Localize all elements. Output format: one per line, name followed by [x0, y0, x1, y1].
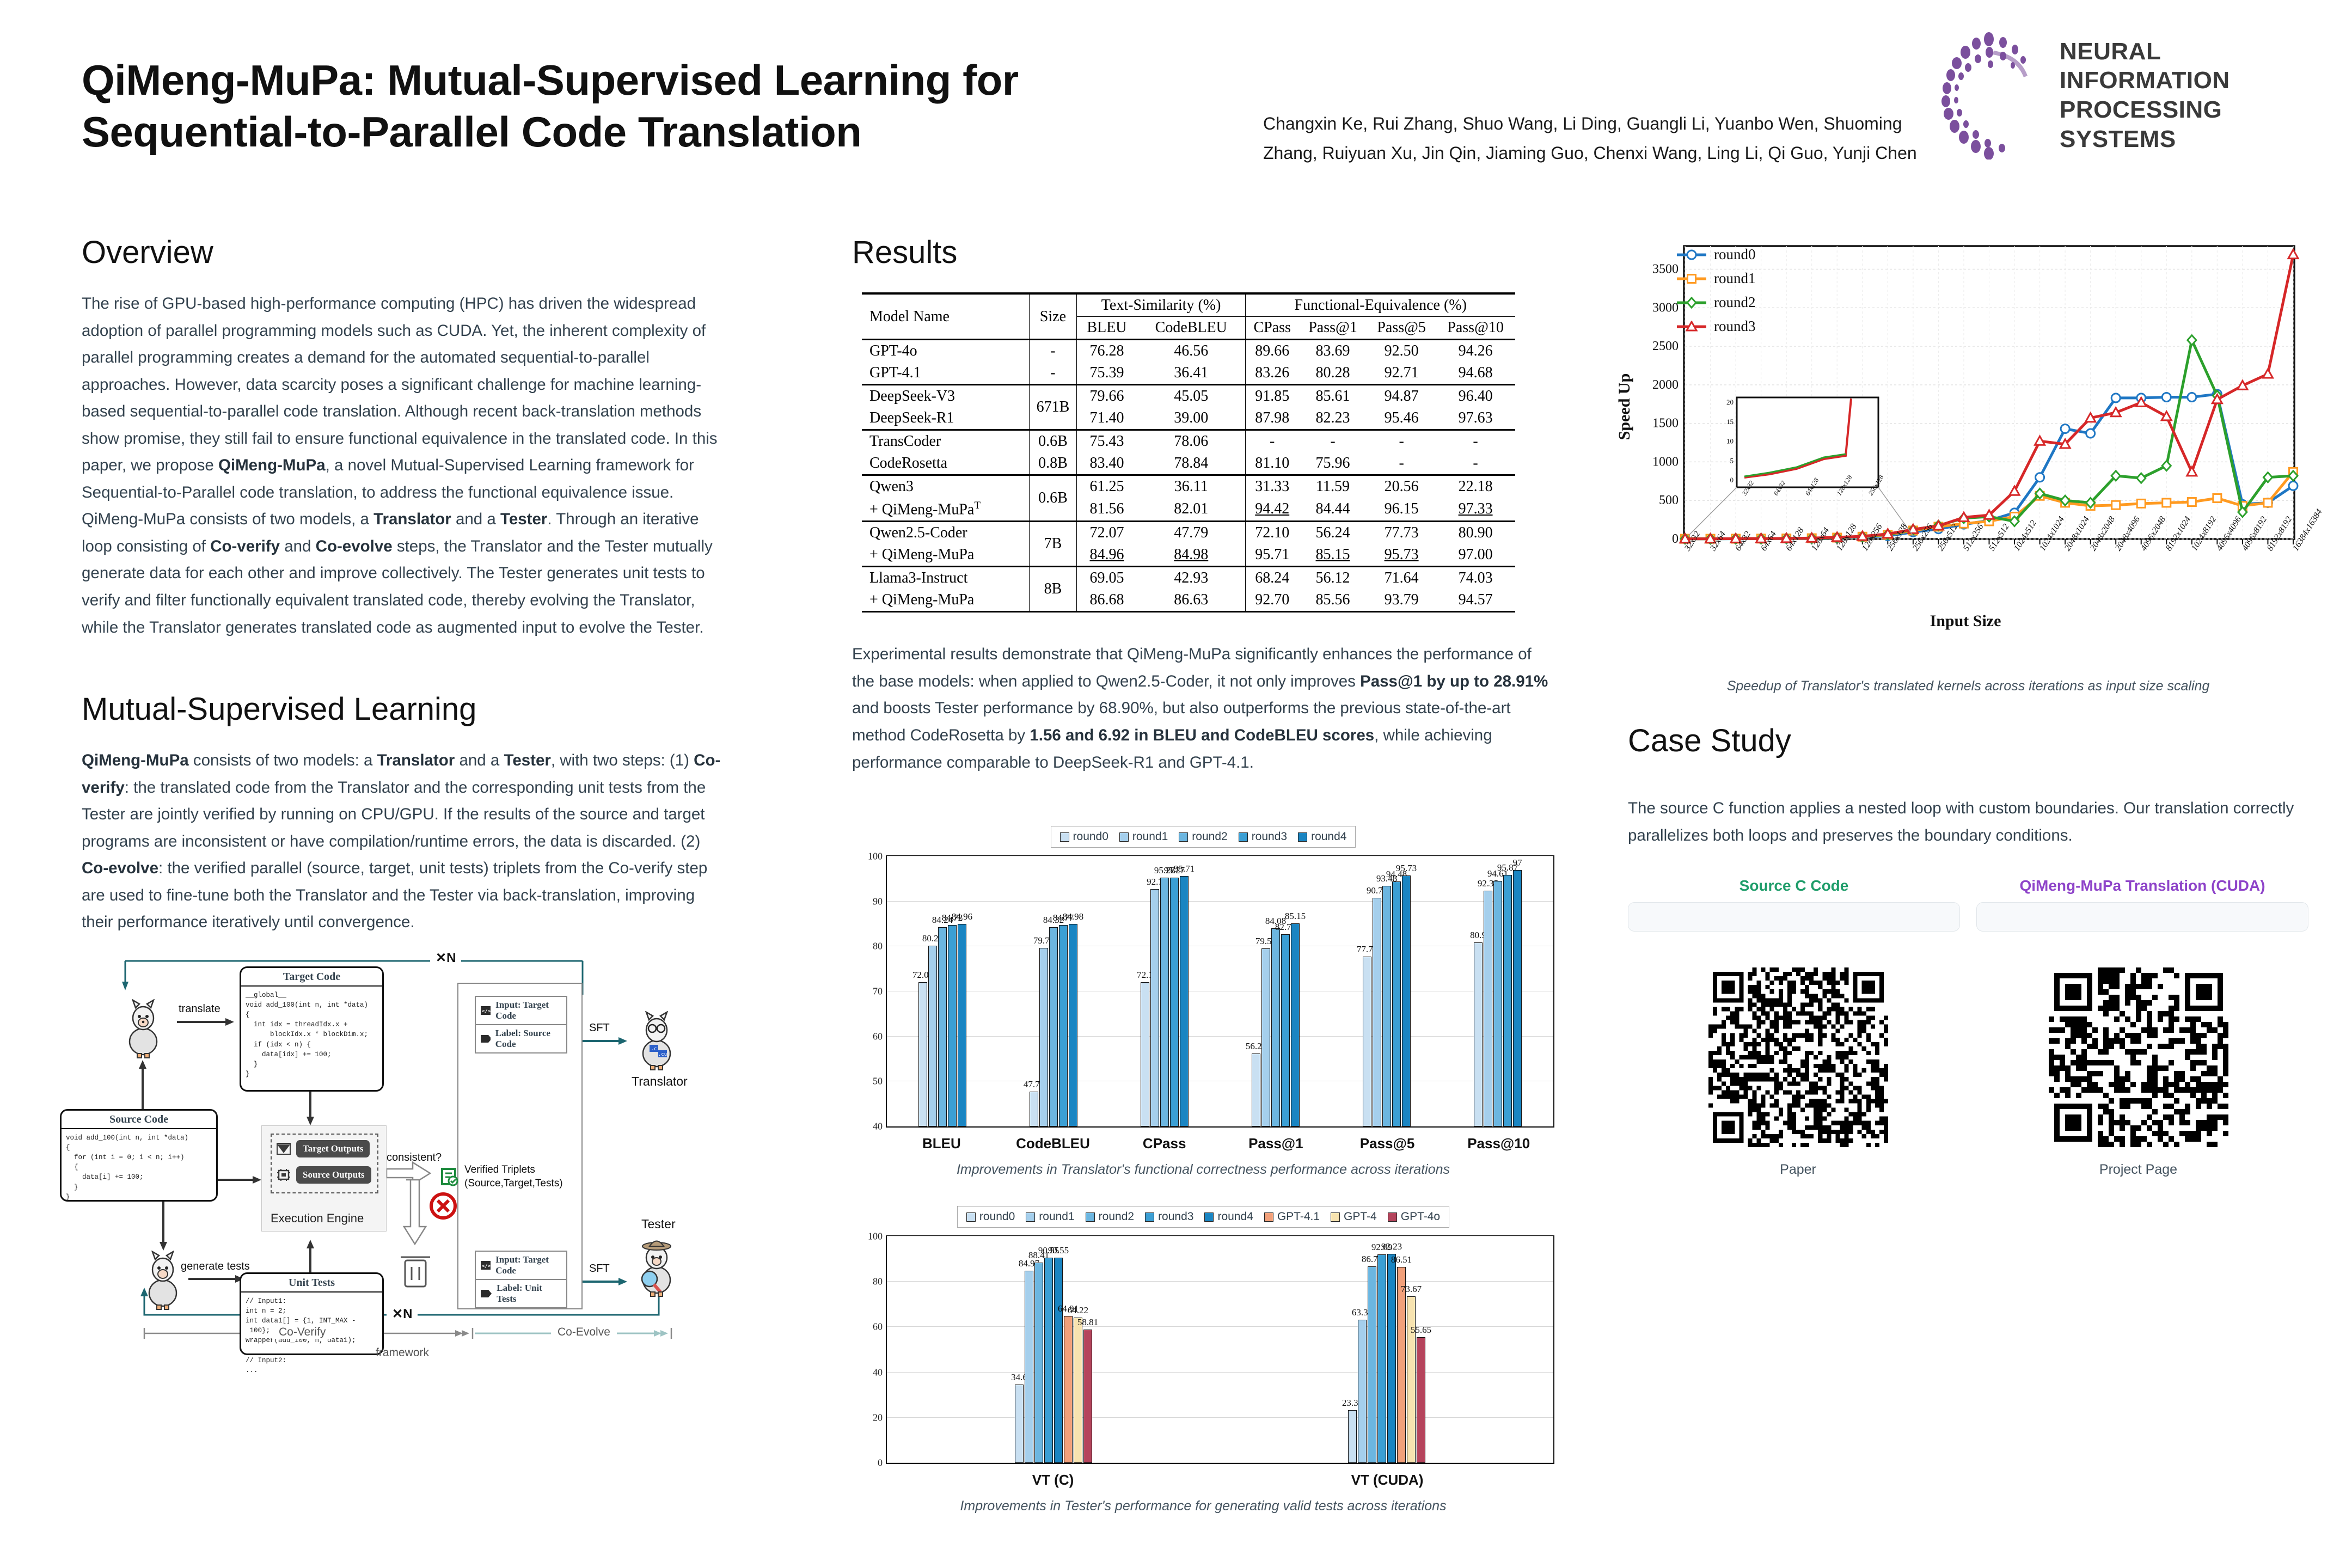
cell-value: 74.03 — [1436, 567, 1515, 590]
bar: 64.91 — [1064, 1316, 1073, 1463]
emphasis-text: Pass@1 by up to 28.91% — [1360, 672, 1548, 690]
cell-value: 92.70 — [1246, 589, 1298, 612]
th-cpass: CPass — [1246, 317, 1298, 340]
code-icon: </> — [480, 1260, 491, 1270]
cell-value: 68.24 — [1246, 567, 1298, 590]
legend-label: GPT-4.1 — [1277, 1210, 1320, 1223]
bar: 58.81 — [1083, 1330, 1092, 1463]
label-icon — [480, 1289, 492, 1298]
speedup-line-chart: Speed Up 0500100015002000250030003500051… — [1628, 234, 2303, 626]
cell-model-name: TransCoder — [862, 430, 1030, 453]
th-codebleu: CodeBLEU — [1137, 317, 1246, 340]
legend-swatch — [1204, 1212, 1214, 1222]
generate-tests-label: generate tests — [181, 1260, 250, 1273]
bar: 86.51 — [1397, 1267, 1406, 1463]
bar: 84.72 — [948, 925, 957, 1126]
table-row: + QiMeng-MuPaT81.5682.0194.4284.4496.159… — [862, 498, 1515, 522]
msl-paragraph: QiMeng-MuPa consists of two models: a Tr… — [82, 747, 730, 936]
bar: 84.77 — [1059, 925, 1068, 1126]
legend-swatch — [1264, 1212, 1273, 1222]
svg-text:2500: 2500 — [1652, 339, 1679, 353]
target-code-title: Target Code — [241, 968, 382, 987]
overview-heading: Overview — [82, 234, 730, 271]
table-row: + QiMeng-MuPa86.6886.6392.7085.5693.7994… — [862, 589, 1515, 612]
cell-model-name: GPT-4o — [862, 340, 1030, 363]
legend-swatch — [1179, 832, 1188, 842]
source-outputs-pill: Source Outputs — [296, 1166, 371, 1184]
y-tick-label: 50 — [853, 1076, 883, 1087]
legend-swatch — [1119, 832, 1129, 842]
legend-item: round2 — [1086, 1210, 1134, 1223]
translator-bar-chart: round0round1round2round3round4 405060708… — [852, 826, 1554, 1178]
bar: 95.28 — [1160, 878, 1169, 1126]
cell-value: 71.40 — [1076, 407, 1137, 430]
cell-size: 671B — [1030, 385, 1077, 430]
legend-marker — [1676, 249, 1707, 261]
cell-value: 11.59 — [1298, 475, 1367, 498]
emphasis-text: Co-verify — [210, 537, 280, 555]
verified-triplets-block: Verified Triplets (Source,Target,Tests) — [441, 1163, 563, 1190]
x-tick-label: Pass@5 — [1332, 1135, 1443, 1152]
legend-label: round0 — [1714, 246, 1756, 263]
x-tick-label: BLEU — [886, 1135, 997, 1152]
bar-value-label: 84.98 — [1063, 911, 1083, 922]
bar: 55.65 — [1417, 1337, 1425, 1463]
cell-value: 85.61 — [1298, 385, 1367, 408]
svg-text:</>: </> — [482, 1009, 491, 1014]
bar: 84.32 — [1049, 927, 1058, 1126]
cell-model-name: + QiMeng-MuPa — [862, 544, 1030, 567]
y-tick-label: 100 — [853, 851, 883, 862]
svg-text:10: 10 — [1726, 437, 1734, 445]
bar: 95.71 — [1180, 876, 1189, 1127]
target-outputs-row: Target Outputs — [276, 1140, 370, 1157]
cell-value: 76.28 — [1076, 340, 1137, 363]
cell-value: 77.73 — [1367, 522, 1436, 544]
verified-triplets-label-1: Verified Triplets — [464, 1163, 563, 1177]
target-code-box: Target Code __global__ void add_100(int … — [240, 966, 384, 1092]
svg-text:3000: 3000 — [1652, 301, 1679, 315]
x-tick-label: CodeBLEU — [997, 1135, 1109, 1152]
cell-value: 87.98 — [1246, 407, 1298, 430]
legend-item: GPT-4.1 — [1264, 1210, 1320, 1223]
y-tick-label: 0 — [853, 1457, 883, 1469]
cell-value: 82.01 — [1137, 498, 1246, 522]
body-text: : the verified parallel (source, target,… — [82, 859, 707, 931]
cell-value: 97.63 — [1436, 407, 1515, 430]
source-code-title: Source Code — [62, 1111, 216, 1129]
io-row: Label: Source Code — [476, 1024, 566, 1052]
cell-value: 94.57 — [1436, 589, 1515, 612]
bar: 93.48 — [1382, 886, 1391, 1126]
emphasis-text: Tester — [504, 751, 550, 769]
cell-model-name: CodeRosetta — [862, 452, 1030, 475]
cell-value: 75.96 — [1298, 452, 1367, 475]
overview-paragraph: The rise of GPU-based high-performance c… — [82, 290, 730, 641]
cell-value: 81.56 — [1076, 498, 1137, 522]
cell-value: 83.69 — [1298, 340, 1367, 363]
cell-model-name: Qwen3 — [862, 475, 1030, 498]
tester-io-card: </> Input: Target Code Label: Unit Tests — [475, 1251, 567, 1308]
cell-value: 95.73 — [1367, 544, 1436, 567]
legend-item: GPT-4 — [1331, 1210, 1377, 1223]
bar: 79.74 — [1039, 948, 1048, 1127]
bar: 80.23 — [928, 946, 937, 1127]
cell-value: 42.93 — [1137, 567, 1246, 590]
legend-item: round1 — [1026, 1210, 1074, 1223]
neurips-logo: NEURAL INFORMATION PROCESSING SYSTEMS — [1933, 30, 2276, 161]
io-label: Label: Source Code — [495, 1028, 562, 1050]
table-row: GPT-4.1-75.3936.4183.2680.2892.7194.68 — [862, 362, 1515, 385]
case-study-code-columns: Source C Code QiMeng-MuPa Translation (C… — [1628, 877, 2308, 932]
bar-group: 47.7979.7484.3284.7784.98 — [998, 856, 1109, 1126]
body-text: The rise of GPU-based high-performance c… — [82, 295, 718, 474]
body-text: , with two steps: (1) — [551, 751, 694, 769]
title-line-1: QiMeng-MuPa: Mutual-Supervised Learning … — [82, 54, 1198, 106]
emphasis-text: Co-evolve — [82, 859, 158, 877]
results-heading: Results — [852, 234, 1554, 271]
legend-label: round1 — [1039, 1210, 1074, 1223]
cell-value: 97.00 — [1436, 544, 1515, 567]
cell-value: 83.40 — [1076, 452, 1137, 475]
cuda-code-column-title: QiMeng-MuPa Translation (CUDA) — [1976, 877, 2308, 895]
legend-item: round0 — [966, 1210, 1015, 1223]
poster-root: QiMeng-MuPa: Mutual-Supervised Learning … — [0, 0, 2352, 1568]
th-pass10: Pass@10 — [1436, 317, 1515, 340]
svg-text:</>: </> — [482, 1264, 491, 1269]
bar: 77.73 — [1363, 957, 1371, 1126]
th-bleu: BLEU — [1076, 317, 1137, 340]
legend-item: round4 — [1204, 1210, 1253, 1223]
cell-value: 85.56 — [1298, 589, 1367, 612]
bar: 86.72 — [1368, 1266, 1376, 1463]
cell-value: 56.24 — [1298, 522, 1367, 544]
cell-value: 91.85 — [1246, 385, 1298, 408]
source-outputs-row: Source Outputs — [276, 1166, 371, 1184]
table-row: GPT-4o-76.2846.5689.6683.6992.5094.26 — [862, 340, 1515, 363]
source-code-body: void add_100(int n, int *data) { for (in… — [62, 1129, 216, 1206]
bar: 79.59 — [1261, 948, 1270, 1126]
body-text: and a — [451, 510, 500, 528]
bar: 88.41 — [1034, 1263, 1043, 1463]
bar: 47.79 — [1030, 1092, 1038, 1126]
legend-label: GPT-4 — [1344, 1210, 1377, 1223]
bar: 84.96 — [958, 924, 966, 1126]
cell-value: 22.18 — [1436, 475, 1515, 498]
column-middle: Results Model Name Size Text-Similarity … — [852, 234, 1554, 1514]
target-outputs-pill: Target Outputs — [296, 1140, 370, 1157]
th-group-text-similarity: Text-Similarity (%) — [1076, 293, 1246, 317]
table-row: TransCoder0.6B75.4378.06---- — [862, 430, 1515, 453]
legend-swatch — [1026, 1212, 1035, 1222]
translator-io-card: </> Input: Target Code Label: Source Cod… — [475, 996, 567, 1053]
cell-value: 39.00 — [1137, 407, 1246, 430]
cell-value: 80.28 — [1298, 362, 1367, 385]
cell-value: 69.05 — [1076, 567, 1137, 590]
cell-value: - — [1298, 430, 1367, 453]
bar: 56.24 — [1252, 1053, 1260, 1126]
legend-label: round2 — [1714, 294, 1756, 311]
bar-value-label: 73.67 — [1401, 1284, 1422, 1295]
bar: 34.6 — [1015, 1385, 1024, 1463]
legend-marker — [1676, 273, 1707, 285]
logo-line-2: PROCESSING SYSTEMS — [2060, 95, 2276, 154]
y-tick-label: 80 — [853, 1276, 883, 1288]
sft-label-translator: SFT — [589, 1022, 610, 1034]
cell-value: 83.26 — [1246, 362, 1298, 385]
qr-project-caption: Project Page — [2049, 1162, 2228, 1178]
qr-project-cell[interactable]: Project Page — [2049, 967, 2228, 1178]
legend-label: round1 — [1132, 830, 1168, 843]
translator-caption: Translator — [632, 1074, 688, 1089]
svg-text:0: 0 — [1730, 476, 1734, 484]
cell-value: 72.10 — [1246, 522, 1298, 544]
xn-label-top: ✕N — [430, 950, 461, 966]
bar: 94.48 — [1392, 881, 1401, 1126]
unit-tests-box: Unit Tests // Input1: int n = 2; int dat… — [240, 1272, 384, 1355]
qr-project-code[interactable] — [2049, 967, 2228, 1147]
cell-value: - — [1436, 430, 1515, 453]
neurips-logo-mark — [1933, 32, 2050, 160]
source-code-column-title: Source C Code — [1628, 877, 1960, 895]
cell-value: 78.84 — [1137, 452, 1246, 475]
body-text: and a — [455, 751, 504, 769]
io-label: Input: Target Code — [495, 1254, 562, 1276]
cell-size: - — [1030, 340, 1077, 363]
cell-model-name: Qwen2.5-Coder — [862, 522, 1030, 544]
bar: 84.97 — [1025, 1271, 1033, 1463]
cell-value: 56.12 — [1298, 567, 1367, 590]
legend-label: round2 — [1192, 830, 1227, 843]
execution-engine-box: Target Outputs Source Outputs Execution … — [261, 1125, 387, 1232]
bar-value-label: 85.15 — [1285, 911, 1306, 922]
legend-item: round3 — [1239, 830, 1287, 843]
cell-value: 84.98 — [1137, 544, 1246, 567]
source-code-block — [1628, 902, 1960, 932]
tester-alpaca-icon-left — [140, 1251, 185, 1313]
legend-label: round2 — [1099, 1210, 1134, 1223]
table-row: Qwen2.5-Coder7B72.0747.7972.1056.2477.73… — [862, 522, 1515, 544]
svg-text:20: 20 — [1726, 398, 1734, 406]
io-label: Label: Unit Tests — [497, 1283, 562, 1304]
tester-chart-caption: Improvements in Tester's performance for… — [852, 1498, 1554, 1514]
y-tick-label: 40 — [853, 1121, 883, 1132]
th-pass5: Pass@5 — [1367, 317, 1436, 340]
y-tick-label: 40 — [853, 1367, 883, 1378]
th-group-functional-equivalence: Functional-Equivalence (%) — [1246, 293, 1515, 317]
legend-swatch — [966, 1212, 976, 1222]
io-row: </> Input: Target Code — [476, 997, 566, 1024]
legend-swatch — [1298, 832, 1307, 842]
results-table-body: GPT-4o-76.2846.5689.6683.6992.5094.26GPT… — [862, 340, 1515, 613]
cell-value: 92.50 — [1367, 340, 1436, 363]
results-table: Model Name Size Text-Similarity (%) Func… — [862, 292, 1515, 612]
cell-value: 47.79 — [1137, 522, 1246, 544]
neurips-logo-text: NEURAL INFORMATION PROCESSING SYSTEMS — [2060, 37, 2276, 154]
framework-caption: framework — [376, 1346, 429, 1359]
cell-value: 78.06 — [1137, 430, 1246, 453]
body-text: and — [280, 537, 316, 555]
bar-group: 77.7390.7793.4894.4895.73 — [1331, 856, 1442, 1126]
bar-value-label: 55.65 — [1411, 1325, 1431, 1336]
cuda-code-block — [1976, 902, 2308, 932]
cell-value: 20.56 — [1367, 475, 1436, 498]
cell-value: 84.44 — [1298, 498, 1367, 522]
sft-label-tester: SFT — [589, 1263, 610, 1275]
io-label: Input: Target Code — [495, 1000, 562, 1021]
legend-swatch — [1239, 832, 1248, 842]
verified-triplets-label-2: (Source,Target,Tests) — [464, 1177, 563, 1191]
page-title: QiMeng-MuPa: Mutual-Supervised Learning … — [82, 54, 1198, 158]
emphasis-text: 1.56 and 6.92 in BLEU and CodeBLEU score… — [1030, 726, 1374, 744]
y-tick-label: 90 — [853, 896, 883, 907]
bar-value-label: 95.73 — [1396, 863, 1417, 874]
table-row: Qwen30.6B61.2536.1131.3311.5920.5622.18 — [862, 475, 1515, 498]
legend-swatch — [1086, 1212, 1095, 1222]
co-evolve-label: Co-Evolve — [551, 1326, 617, 1339]
cell-value: 94.26 — [1436, 340, 1515, 363]
translator-chart-caption: Improvements in Translator's functional … — [852, 1162, 1554, 1178]
y-tick-label: 100 — [853, 1231, 883, 1242]
bar: 94.61 — [1493, 881, 1502, 1126]
cell-value: 95.46 — [1367, 407, 1436, 430]
th-pass1: Pass@1 — [1298, 317, 1367, 340]
legend-swatch — [1331, 1212, 1340, 1222]
column-left: Overview The rise of GPU-based high-perf… — [82, 234, 730, 1343]
bar-value-label: 86.51 — [1391, 1254, 1412, 1265]
cell-value: 96.15 — [1367, 498, 1436, 522]
cell-size: 0.6B — [1030, 430, 1077, 453]
title-line-2: Sequential-to-Parallel Code Translation — [82, 106, 1198, 158]
results-table-head: Model Name Size Text-Similarity (%) Func… — [862, 293, 1515, 340]
legend-label: round0 — [1073, 830, 1108, 843]
bar-value-label: 92.23 — [1381, 1241, 1402, 1252]
legend-item: round2 — [1179, 830, 1227, 843]
legend-item: round4 — [1298, 830, 1346, 843]
table-row: DeepSeek-V3671B79.6645.0591.8585.6194.87… — [862, 385, 1515, 408]
bar-value-label: 97 — [1513, 857, 1522, 868]
legend-marker — [1676, 321, 1707, 333]
bar: 92.35 — [1484, 891, 1492, 1126]
table-header-row-1: Model Name Size Text-Similarity (%) Func… — [862, 293, 1515, 317]
logo-line-1: NEURAL INFORMATION — [2060, 37, 2276, 95]
bar-group: 34.684.9788.4190.5590.5564.9164.2258.81 — [887, 1236, 1220, 1463]
bar: 72.1 — [1141, 982, 1149, 1126]
cell-model-name: Llama3-Instruct — [862, 567, 1030, 590]
svg-text:1000: 1000 — [1652, 455, 1679, 469]
io-row: Label: Unit Tests — [476, 1279, 566, 1307]
translator-alpaca-icon-right: .c .cu — [634, 1011, 679, 1074]
xn-label-bottom: ✕N — [387, 1306, 418, 1322]
table-row: + QiMeng-MuPa84.9684.9895.7185.1595.7397… — [862, 544, 1515, 567]
code-icon: </> — [480, 1006, 491, 1015]
svg-text:0: 0 — [1672, 532, 1679, 546]
cell-value: 31.33 — [1246, 475, 1298, 498]
translator-chart-legend: round0round1round2round3round4 — [852, 826, 1554, 848]
legend-label: round4 — [1217, 1210, 1253, 1223]
bar: 90.55 — [1054, 1258, 1063, 1463]
cell-value: - — [1367, 452, 1436, 475]
author-line-1: Changxin Ke, Rui Zhang, Shuo Wang, Li Di… — [1263, 109, 1987, 138]
msl-heading: Mutual-Supervised Learning — [82, 691, 730, 727]
cell-value: 94.68 — [1436, 362, 1515, 385]
legend-label: round3 — [1252, 830, 1287, 843]
cell-model-name: DeepSeek-R1 — [862, 407, 1030, 430]
bar: 95.27 — [1170, 878, 1179, 1126]
bar-group: 23.3363.3586.7292.0992.2386.5173.6755.65 — [1220, 1236, 1553, 1463]
speedup-legend: round0round1round2round3 — [1676, 246, 1756, 342]
qr-paper-code[interactable] — [1708, 967, 1888, 1147]
legend-item: round1 — [1676, 270, 1756, 287]
cell-value: 71.64 — [1367, 567, 1436, 590]
case-study-paragraph: The source C function applies a nested l… — [1628, 795, 2308, 849]
cell-value: 72.07 — [1076, 522, 1137, 544]
tester-alpaca-icon-right — [634, 1235, 679, 1301]
svg-text:5: 5 — [1730, 456, 1734, 464]
bar-value-label: 64.22 — [1068, 1305, 1088, 1316]
cell-value: 92.71 — [1367, 362, 1436, 385]
poster-header: QiMeng-MuPa: Mutual-Supervised Learning … — [0, 0, 2352, 174]
legend-label: GPT-4o — [1401, 1210, 1440, 1223]
bar: 84.24 — [938, 927, 947, 1126]
legend-swatch — [1060, 832, 1069, 842]
emphasis-text: QiMeng-MuPa — [218, 456, 326, 474]
cell-value: 46.56 — [1137, 340, 1246, 363]
source-code-box: Source Code void add_100(int n, int *dat… — [60, 1109, 218, 1202]
verified-doc-icon — [441, 1168, 460, 1186]
label-icon — [480, 1034, 491, 1044]
cpu-icon — [276, 1168, 291, 1182]
body-text: : the translated code from the Translato… — [82, 779, 706, 850]
cell-value: - — [1367, 430, 1436, 453]
svg-text:1500: 1500 — [1652, 416, 1679, 431]
bar-group: 80.992.3594.6195.8797 — [1442, 856, 1553, 1126]
cell-size: - — [1030, 362, 1077, 385]
cell-value: 86.68 — [1076, 589, 1137, 612]
table-row: DeepSeek-R171.4039.0087.9882.2395.4697.6… — [862, 407, 1515, 430]
x-tick-label: VT (CUDA) — [1220, 1472, 1554, 1489]
cell-model-name: + QiMeng-MuPaT — [862, 498, 1030, 522]
qr-paper-cell[interactable]: Paper — [1708, 967, 1888, 1178]
author-line-2: Zhang, Ruiyuan Xu, Jin Qin, Jiaming Guo,… — [1263, 138, 1987, 168]
bar: 95.87 — [1503, 875, 1512, 1126]
y-tick-label: 20 — [853, 1412, 883, 1423]
tester-bar-chart: round0round1round2round3round4GPT-4.1GPT… — [852, 1206, 1554, 1514]
case-study-heading: Case Study — [1628, 722, 2308, 759]
legend-swatch — [1388, 1212, 1397, 1222]
tester-caption: Tester — [641, 1217, 676, 1232]
table-row: CodeRosetta0.8B83.4078.8481.1075.96-- — [862, 452, 1515, 475]
cell-value: - — [1436, 452, 1515, 475]
results-paragraph: Experimental results demonstrate that Qi… — [852, 641, 1554, 776]
speedup-x-axis-label: Input Size — [1628, 612, 2303, 630]
bar-group: 72.192.795.2895.2795.71 — [1109, 856, 1220, 1126]
bar: 85.15 — [1291, 923, 1300, 1126]
y-tick-label: 60 — [853, 1321, 883, 1333]
legend-item: GPT-4o — [1388, 1210, 1440, 1223]
cell-value: 89.66 — [1246, 340, 1298, 363]
cell-value: 75.39 — [1076, 362, 1137, 385]
svg-text:2000: 2000 — [1652, 378, 1679, 392]
x-tick-label: Pass@1 — [1220, 1135, 1332, 1152]
qr-paper-caption: Paper — [1708, 1162, 1888, 1178]
cell-size: 0.8B — [1030, 452, 1077, 475]
bar: 92.23 — [1387, 1254, 1396, 1463]
bar: 23.33 — [1348, 1410, 1357, 1463]
cell-value: 61.25 — [1076, 475, 1137, 498]
column-right: Speed Up 0500100015002000250030003500051… — [1628, 234, 2308, 1178]
consistent-label: consistent? — [387, 1151, 442, 1164]
